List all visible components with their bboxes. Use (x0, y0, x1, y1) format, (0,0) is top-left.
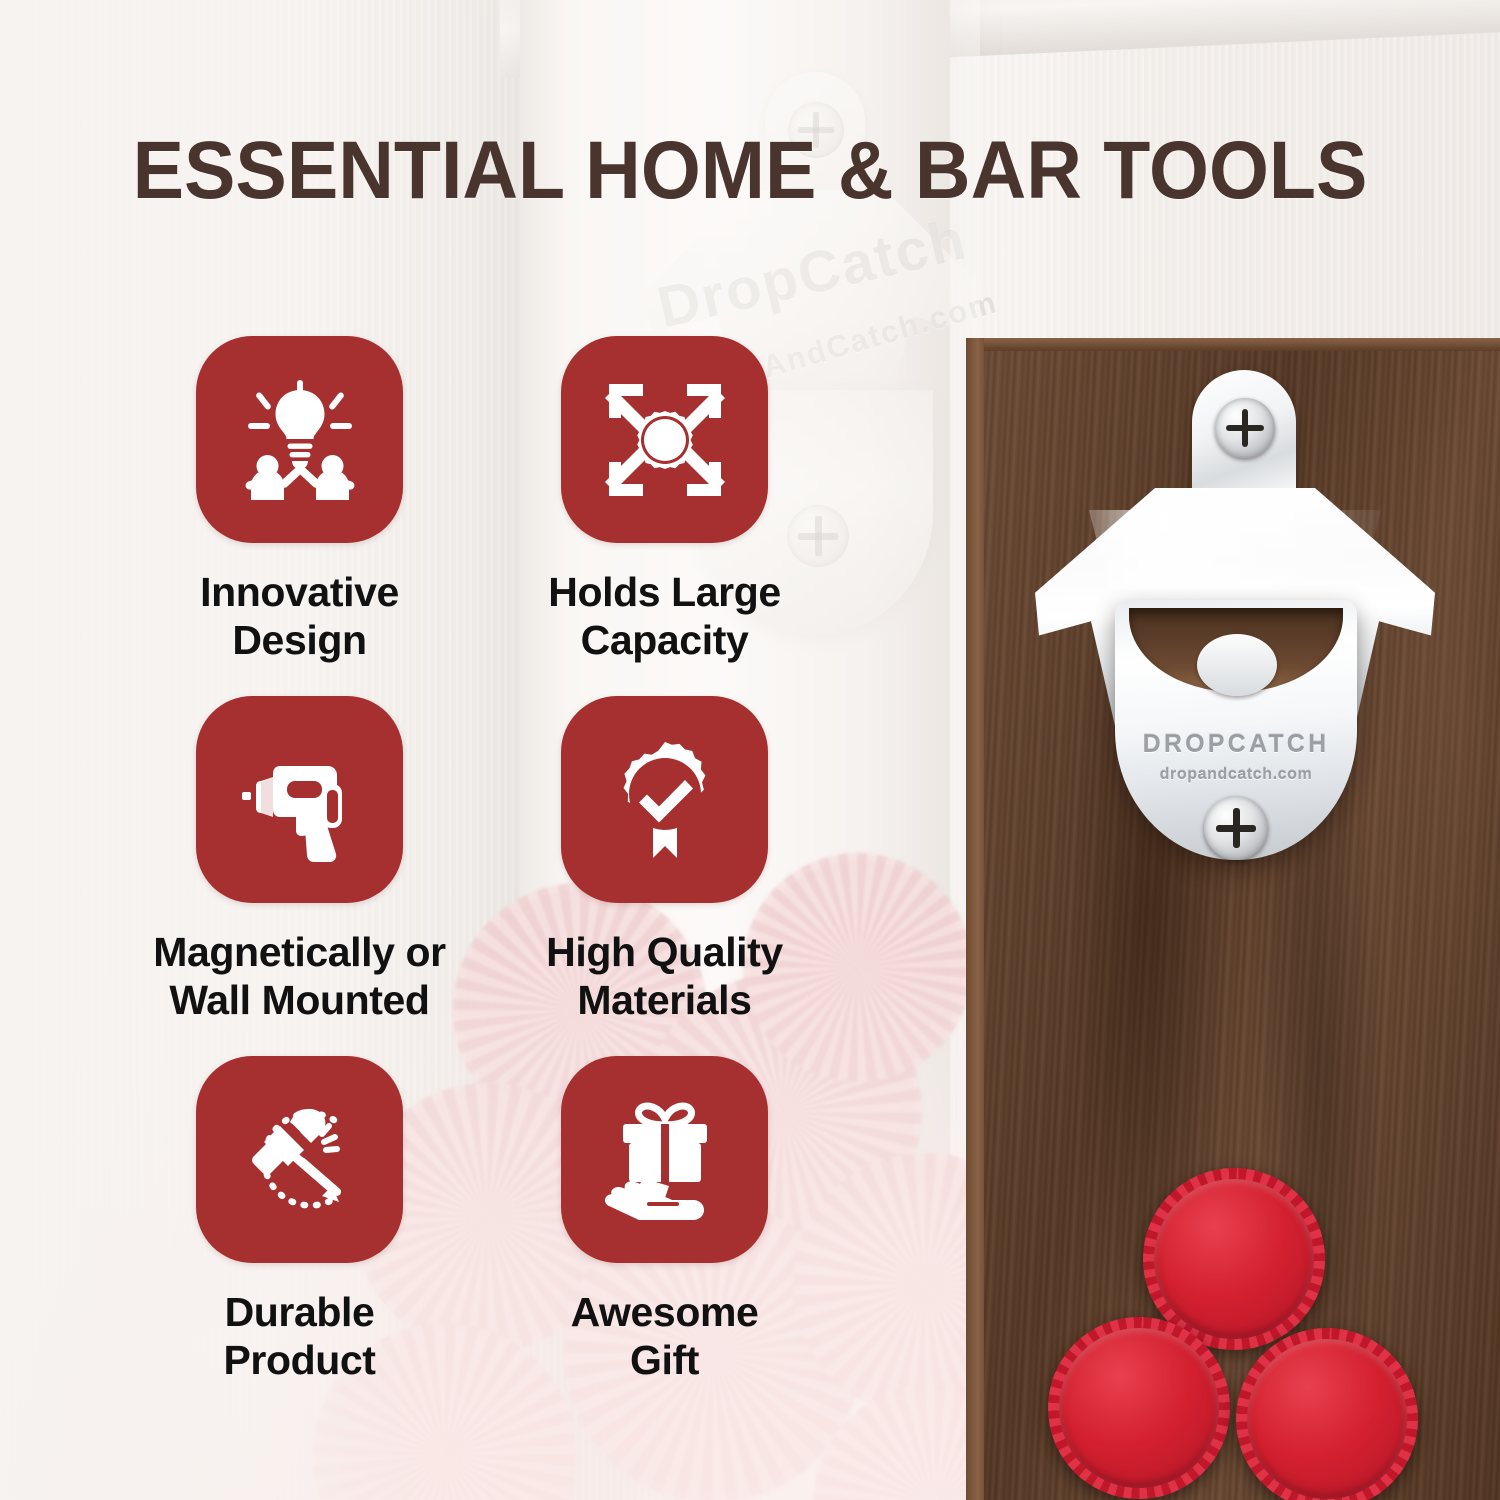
feature-icon-tile (196, 1056, 403, 1263)
feature-icon-tile (561, 336, 768, 543)
opener-lever-lip (1197, 634, 1277, 696)
feature-icon-tile (196, 336, 403, 543)
bottle-cap-right (1236, 1328, 1418, 1500)
feature-icon-tile (561, 696, 768, 903)
cap-face (1154, 1179, 1314, 1339)
quality-badge-check-icon (601, 736, 729, 864)
page-title: ESSENTIAL HOME & BAR TOOLS (45, 124, 1455, 218)
feature-item: Magnetically or Wall Mounted (122, 696, 477, 1056)
url-engraving: dropandcatch.com (1115, 766, 1357, 784)
board-top-edge (984, 338, 1500, 351)
mounting-screw-bottom (1204, 796, 1268, 860)
feature-label: Durable Product (223, 1289, 375, 1384)
feature-item: Innovative Design (122, 336, 477, 696)
gift-in-hand-icon (601, 1096, 729, 1224)
opener-disc: DROPCATCH dropandcatch.com (1115, 600, 1357, 860)
feature-label: Magnetically or Wall Mounted (153, 929, 445, 1024)
cap-face (1247, 1339, 1407, 1499)
feature-item: High Quality Materials (487, 696, 842, 1056)
hammer-impact-icon (236, 1096, 364, 1224)
power-drill-icon (236, 736, 364, 864)
feature-label: Innovative Design (200, 569, 399, 664)
bottle-cap-left (1048, 1317, 1230, 1499)
feature-item: Holds Large Capacity (487, 336, 842, 696)
cap-face (1059, 1328, 1219, 1488)
feature-label: Holds Large Capacity (548, 569, 781, 664)
expand-arrows-bottlecap-icon (601, 376, 729, 504)
feature-item: Awesome Gift (487, 1056, 842, 1416)
product-infographic: DropCatch DropAndCatch.com (0, 0, 1500, 1500)
chrome-bottle-opener: DROPCATCH dropandcatch.com (1035, 370, 1435, 900)
feature-grid: Innovative Design (122, 336, 842, 1416)
mounting-screw-top (1215, 398, 1275, 458)
feature-label: High Quality Materials (546, 929, 783, 1024)
feature-label: Awesome Gift (571, 1289, 759, 1384)
brand-engraving: DROPCATCH (1115, 730, 1357, 759)
lightbulb-people-icon (236, 376, 364, 504)
feature-icon-tile (196, 696, 403, 903)
feature-item: Durable Product (122, 1056, 477, 1416)
feature-icon-tile (561, 1056, 768, 1263)
